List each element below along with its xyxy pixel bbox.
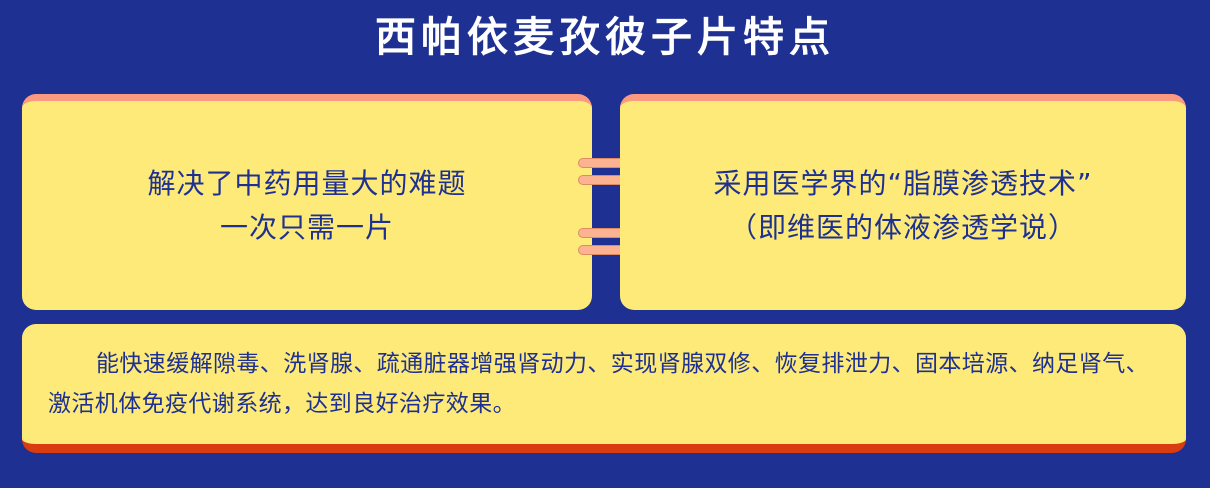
connector-stitches-upper (592, 158, 620, 185)
feature-cards-row: 解决了中药用量大的难题 一次只需一片 采用医学界的“脂膜渗透技术” （即维医的体… (22, 94, 1186, 310)
summary-banner: 能快速缓解隙毒、洗肾腺、疏通脏器增强肾动力、实现肾腺双修、恢复排泄力、固本培源、… (22, 324, 1186, 453)
page-title: 西帕依麦孜彼子片特点 (0, 14, 1210, 61)
feature-card-right-line-2: （即维医的体液渗透学说） (729, 206, 1077, 249)
connector-stitches-lower (592, 228, 620, 255)
feature-card-right-line-1: 采用医学界的“脂膜渗透技术” (713, 162, 1092, 205)
page-title-text: 西帕依麦孜彼子片特点 (375, 14, 835, 61)
promo-poster: { "poster": { "background_color": "#1e31… (0, 0, 1210, 488)
feature-card-left: 解决了中药用量大的难题 一次只需一片 (22, 94, 592, 310)
feature-card-left-line-1: 解决了中药用量大的难题 (147, 162, 466, 205)
feature-card-right: 采用医学界的“脂膜渗透技术” （即维医的体液渗透学说） (620, 94, 1186, 310)
feature-card-left-line-2: 一次只需一片 (220, 206, 394, 249)
summary-banner-text: 能快速缓解隙毒、洗肾腺、疏通脏器增强肾动力、实现肾腺双修、恢复排泄力、固本培源、… (48, 344, 1160, 425)
